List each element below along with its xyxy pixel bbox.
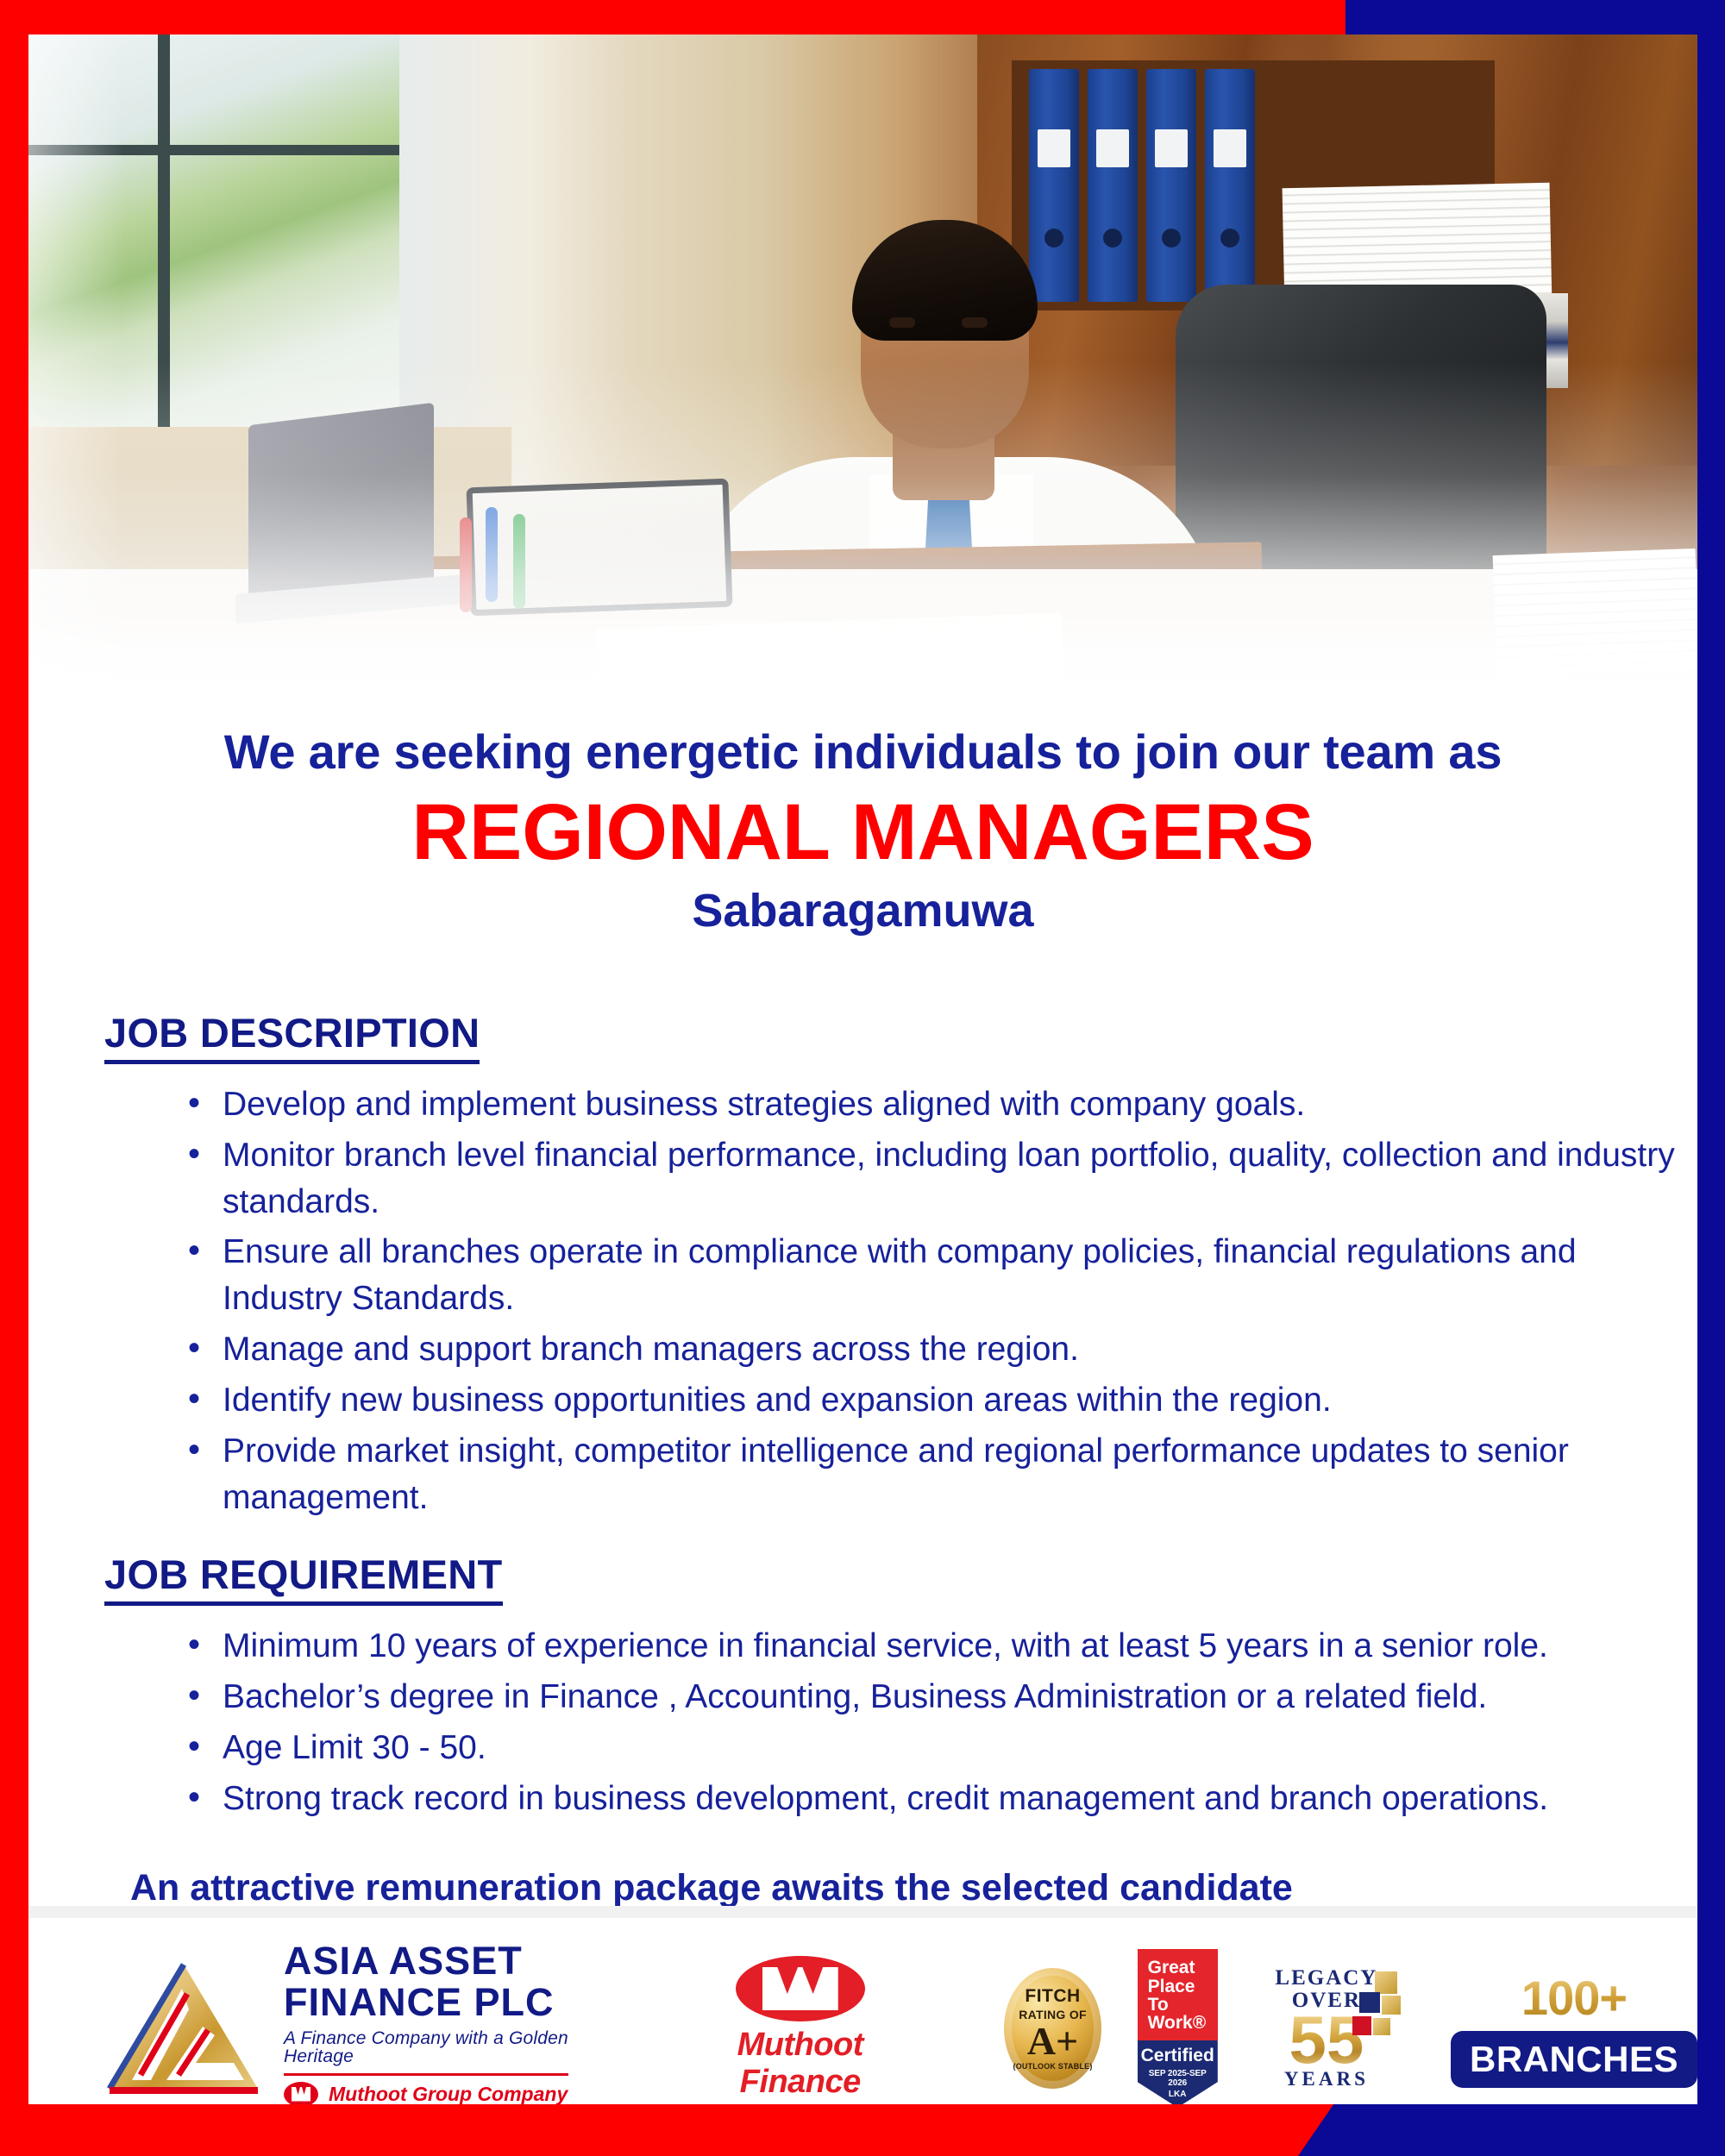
- list-item: Provide market insight, competitor intel…: [28, 1428, 1697, 1521]
- asia-asset-wordmark: ASIA ASSET FINANCE PLC A Finance Company…: [284, 1941, 568, 2105]
- person-hair: [852, 220, 1038, 341]
- job-description-list: Develop and implement business strategie…: [28, 1081, 1697, 1520]
- great-place-to-work-badge: Great Place To Work® Certified SEP 2025-…: [1138, 1949, 1218, 2104]
- fitch-grade: A+: [1027, 2022, 1078, 2060]
- muthoot-group-row: Muthoot Group Company: [284, 2082, 568, 2105]
- footer-divider: [28, 1906, 1697, 1918]
- muthoot-m-icon: [736, 1956, 865, 2021]
- list-item: Age Limit 30 - 50.: [28, 1725, 1697, 1771]
- job-advertisement-poster: We are seeking energetic individuals to …: [0, 0, 1725, 2156]
- job-requirement-heading: JOB REQUIREMENT: [104, 1551, 503, 1606]
- divider-line: [284, 2073, 568, 2076]
- gold-square-icon: [1373, 2018, 1390, 2035]
- gptw-country: LKA: [1141, 2090, 1214, 2099]
- muthoot-mark-icon: [284, 2082, 318, 2105]
- gptw-bottom: Certified SEP 2025-SEP 2026 LKA: [1138, 2040, 1218, 2104]
- branch-count: 100+: [1451, 1970, 1697, 2026]
- asia-asset-finance-logo: ASIA ASSET FINANCE PLC A Finance Company…: [106, 1941, 568, 2105]
- muthoot-finance-logo: Muthoot Finance: [698, 1956, 902, 2101]
- company-tagline: A Finance Company with a Golden Heritage: [284, 2029, 568, 2065]
- job-description-heading: JOB DESCRIPTION: [104, 1009, 480, 1064]
- job-requirement-list: Minimum 10 years of experience in financ…: [28, 1623, 1697, 1821]
- hero-photo: [28, 34, 1697, 716]
- branches-badge: 100+ BRANCHES: [1451, 1970, 1697, 2088]
- poster-inner-canvas: We are seeking energetic individuals to …: [28, 34, 1697, 2104]
- person-eye: [962, 317, 988, 328]
- gptw-dates: SEP 2025-SEP 2026: [1141, 2069, 1214, 2088]
- red-square-icon: [1352, 2016, 1371, 2035]
- gptw-line3: To: [1148, 1996, 1209, 2014]
- company-name-line2: FINANCE PLC: [284, 1983, 568, 2021]
- legacy-years-label: YEARS: [1263, 2068, 1390, 2090]
- gptw-certified: Certified: [1141, 2046, 1214, 2066]
- gptw-top: Great Place To Work®: [1138, 1949, 1218, 2040]
- job-title: REGIONAL MANAGERS: [28, 788, 1697, 877]
- footer-logos: ASIA ASSET FINANCE PLC A Finance Company…: [28, 1918, 1697, 2104]
- list-item: Manage and support branch managers acros…: [28, 1326, 1697, 1373]
- person-eye: [889, 317, 915, 328]
- list-item: Minimum 10 years of experience in financ…: [28, 1623, 1697, 1670]
- triangle-logo-icon: [106, 1959, 261, 2097]
- fitch-label: FITCH: [1025, 1986, 1080, 2007]
- list-item: Monitor branch level financial performan…: [28, 1132, 1697, 1225]
- muthoot-group-label: Muthoot Group Company: [329, 2084, 568, 2104]
- legacy-line1: LEGACY: [1263, 1966, 1390, 1990]
- gptw-line4: Work®: [1148, 2014, 1209, 2032]
- headline-block: We are seeking energetic individuals to …: [28, 724, 1697, 938]
- gold-square-icon: [1375, 1971, 1397, 1994]
- gptw-line2: Place: [1148, 1977, 1209, 1996]
- list-item: Strong track record in business developm…: [28, 1776, 1697, 1822]
- branches-label: BRANCHES: [1451, 2031, 1697, 2088]
- content-block: JOB DESCRIPTION Develop and implement bu…: [28, 1009, 1697, 1969]
- list-item: Identify new business opportunities and …: [28, 1377, 1697, 1424]
- navy-square-icon: [1359, 1992, 1380, 2013]
- gptw-line1: Great: [1148, 1959, 1209, 1977]
- fitch-outlook: (OUTLOOK STABLE): [1013, 2062, 1093, 2071]
- list-item: Bachelor’s degree in Finance , Accountin…: [28, 1674, 1697, 1720]
- fitch-rating-badge: FITCH RATING OF A+ (OUTLOOK STABLE): [1004, 1968, 1101, 2089]
- gold-square-icon: [1382, 1996, 1401, 2015]
- job-region: Sabaragamuwa: [28, 884, 1697, 937]
- photo-bottom-fade: [28, 362, 1697, 716]
- list-item: Develop and implement business strategie…: [28, 1081, 1697, 1128]
- list-item: Ensure all branches operate in complianc…: [28, 1229, 1697, 1322]
- headline-intro: We are seeking energetic individuals to …: [28, 724, 1697, 780]
- legacy-years-badge: LEGACY OVER 55 YEARS: [1263, 1966, 1390, 2090]
- muthoot-finance-label: Muthoot Finance: [698, 2027, 902, 2101]
- company-name-line1: ASIA ASSET: [284, 1941, 568, 1980]
